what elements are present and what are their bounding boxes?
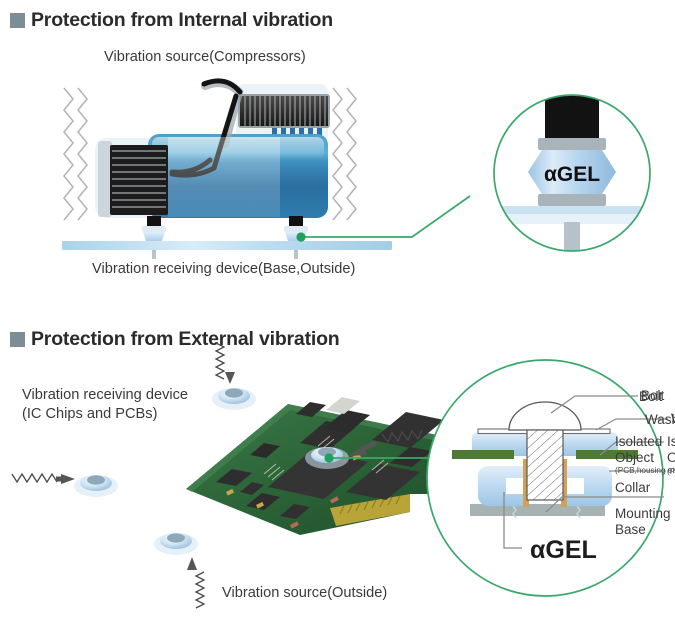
caption-line-2: (IC Chips and PCBs) <box>22 405 188 424</box>
refrigerant-pipes-dark <box>172 81 240 175</box>
pcb-passives <box>226 453 361 528</box>
mounting-base-bar <box>62 241 392 250</box>
vibration-spring-left <box>12 474 57 482</box>
vibration-arrow-right <box>348 443 376 456</box>
section-heading-internal: Protection from Internal vibration <box>10 9 333 32</box>
caption-line-1: Vibration receiving device <box>22 386 188 405</box>
gel-nubs <box>513 506 580 518</box>
callout-label-isolated-object-2: Object <box>667 450 675 465</box>
section-heading-external-label: Protection from External vibration <box>31 328 340 351</box>
collar-right <box>561 459 567 507</box>
callout-leader-internal <box>296 196 470 242</box>
agel-grommet-bottom <box>154 533 198 555</box>
pcb-components <box>216 397 444 519</box>
caption-vibration-source-outside: Vibration source(Outside) <box>222 584 387 603</box>
vibration-zigzag-right <box>333 88 356 220</box>
gel-lower-right <box>562 466 612 506</box>
callout-leader-external <box>324 453 438 462</box>
detail-callout-internal: αGEL <box>494 92 650 256</box>
isolated-object-bar-left <box>452 450 514 459</box>
callout-label-isolated-object: Isolated <box>667 434 675 449</box>
callout-label-base-text: Base <box>615 522 646 537</box>
gel-upper-right <box>562 432 618 456</box>
agel-grommet-right <box>305 447 349 469</box>
vibration-spring-bottom <box>196 572 204 608</box>
filled-square-icon <box>10 13 25 28</box>
filled-square-icon <box>10 332 25 347</box>
agel-grommet-left <box>74 475 118 497</box>
callout-label-collar-text: Collar <box>615 480 650 495</box>
pcb-illustration <box>12 343 444 608</box>
agel-label-internal: αGEL <box>544 163 600 186</box>
callout-label-isolated-text: Isolated <box>615 434 662 449</box>
gel-lower-left <box>478 466 528 506</box>
refrigerant-pipes <box>205 83 239 144</box>
callout-label-washer-text: Washer <box>645 412 675 427</box>
artwork-layer: αGEL <box>0 0 675 622</box>
heatsink-left <box>98 141 168 217</box>
agel-mount-left <box>142 226 166 259</box>
callout-label-object-text: Object <box>615 450 654 465</box>
section-heading-external: Protection from External vibration <box>10 328 340 351</box>
vibration-arrow-left <box>61 474 75 484</box>
compressor-body <box>148 134 328 218</box>
callout-label-mounting-text: Mounting <box>615 506 671 521</box>
vibration-zigzag-left <box>64 88 87 220</box>
callout-label-isolated-note-text: (PCB,housing etc.) <box>615 466 675 475</box>
vibration-arrow-bottom <box>187 557 197 570</box>
agel-leader <box>504 492 522 548</box>
diagram-canvas: Protection from Internal vibration Vibra… <box>0 0 675 622</box>
caption-vibration-receiving-base: Vibration receiving device(Base,Outside) <box>92 260 355 279</box>
callout-label-bolt-text: Bolt <box>639 389 662 404</box>
condenser-fins-top <box>238 94 330 150</box>
caption-vibration-source-compressors: Vibration source(Compressors) <box>104 48 306 67</box>
edge-connector <box>330 494 410 526</box>
vibration-spring-right <box>382 430 422 442</box>
collar-left <box>523 459 529 507</box>
washer-plate <box>478 429 610 434</box>
vibration-arrow-top <box>225 372 235 384</box>
bolt <box>509 402 581 500</box>
mount-legs <box>147 216 303 240</box>
agel-label-external: αGEL <box>530 536 597 564</box>
pcb-board <box>186 397 444 535</box>
detail-callout-external: αGEL Bolt Washer Isolated Object (PCB,ho… <box>427 360 675 596</box>
mounting-base-plate <box>470 504 605 516</box>
agel-mount-right <box>284 226 308 259</box>
agel-grommet-top <box>212 388 256 410</box>
caption-vibration-receiving-ic-pcb: Vibration receiving device (IC Chips and… <box>22 386 188 425</box>
gel-upper-left <box>472 432 528 456</box>
compressor-illustration <box>62 81 470 259</box>
section-heading-internal-label: Protection from Internal vibration <box>31 9 333 32</box>
